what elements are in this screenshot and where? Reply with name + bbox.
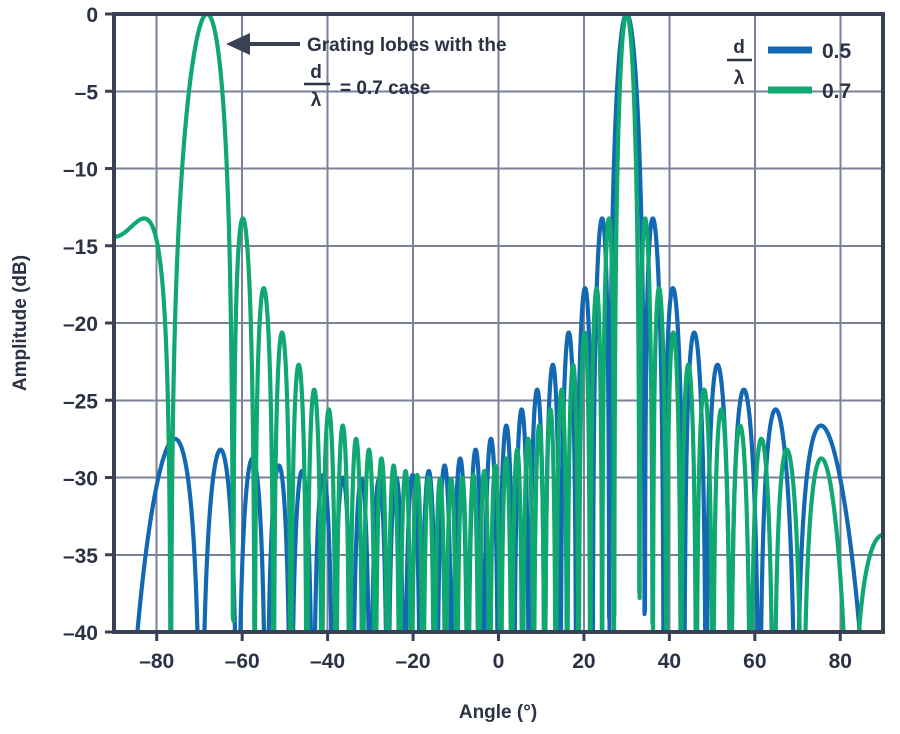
callout-line-2: = 0.7 case: [340, 78, 430, 99]
y-tick-label: –25: [63, 390, 98, 413]
x-tick-label: –40: [310, 650, 345, 673]
callout-fraction-numerator: d: [310, 62, 322, 83]
y-tick-label: 0: [86, 4, 98, 27]
legend-fraction-numerator: d: [733, 37, 745, 58]
x-tick-label: 0: [493, 650, 505, 673]
x-tick-label: –80: [139, 650, 174, 673]
y-tick-label: –35: [63, 545, 98, 568]
y-tick-label: –10: [63, 159, 98, 182]
legend-label-0.5: 0.5: [822, 40, 852, 63]
x-tick-label: –20: [396, 650, 431, 673]
x-tick-label: 40: [658, 650, 681, 673]
x-tick-label: 60: [743, 650, 766, 673]
y-tick-label: –40: [63, 622, 98, 645]
legend-label-0.7: 0.7: [822, 80, 851, 103]
x-tick-label: 80: [829, 650, 852, 673]
x-tick-label: 20: [572, 650, 595, 673]
array-factor-chart: 0–5–10–15–20–25–30–35–40 –80–60–40–20020…: [0, 0, 900, 734]
x-axis-title: Angle (°): [459, 702, 537, 723]
y-tick-label: –15: [63, 236, 98, 259]
callout-line-1: Grating lobes with the: [307, 35, 507, 56]
y-tick-label: –20: [63, 313, 98, 336]
y-tick-label: –5: [75, 81, 99, 104]
callout-fraction-denominator: λ: [311, 90, 322, 111]
y-axis-title: Amplitude (dB): [10, 255, 31, 391]
x-tick-label: –60: [225, 650, 260, 673]
legend-fraction-denominator: λ: [734, 68, 745, 89]
y-tick-label: –30: [63, 468, 98, 491]
